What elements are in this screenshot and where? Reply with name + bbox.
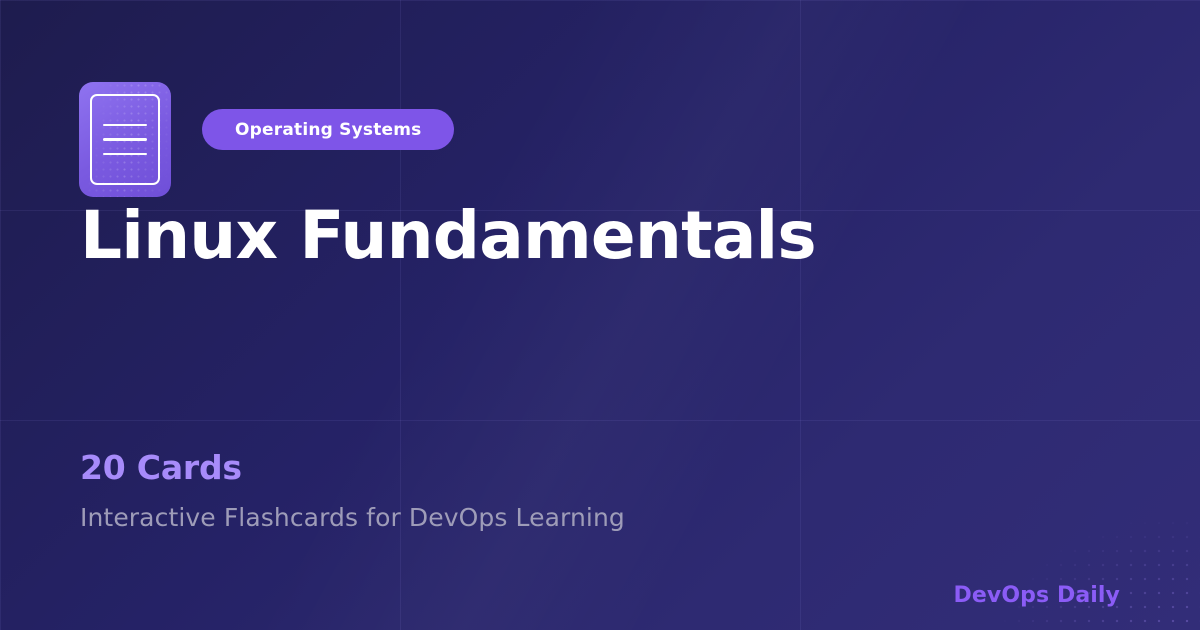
page-title: Linux Fundamentals [80, 200, 816, 273]
category-badge: Operating Systems [202, 109, 454, 150]
icon-inner-frame [90, 94, 160, 185]
icon-line-3 [103, 153, 147, 156]
page-subtitle: Interactive Flashcards for DevOps Learni… [80, 503, 625, 532]
icon-line-2 [103, 138, 147, 141]
flashcard-share-card: Operating Systems Linux Fundamentals 20 … [0, 0, 1200, 630]
header-row: Operating Systems [79, 82, 454, 197]
flashcard-stack-icon [79, 82, 171, 197]
card-count: 20 Cards [80, 448, 242, 487]
brand-name: DevOps Daily [954, 583, 1120, 608]
icon-line-1 [103, 124, 147, 127]
